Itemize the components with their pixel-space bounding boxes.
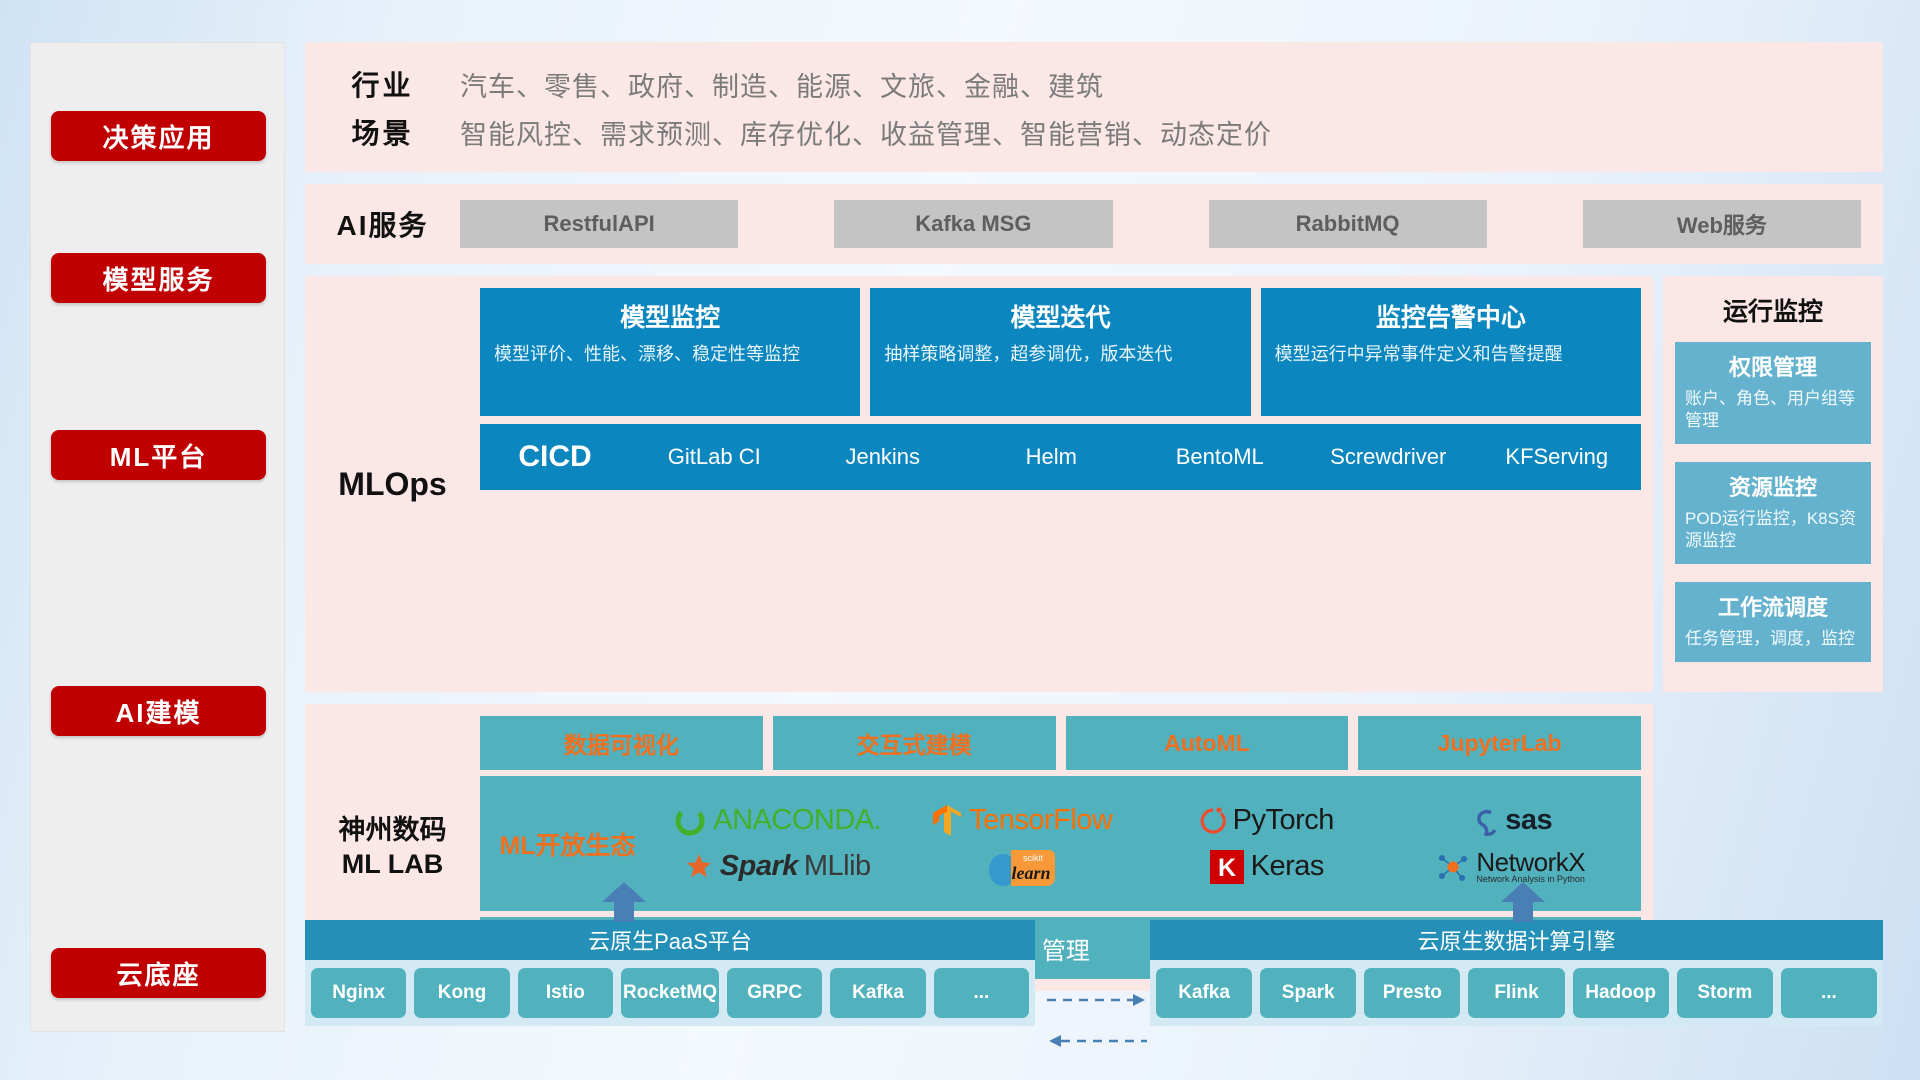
monitor-card-permission[interactable]: 权限管理 账户、角色、用户组等管理 xyxy=(1675,342,1871,444)
monitor-card-title: 资源监控 xyxy=(1685,470,1861,502)
cicd-tool[interactable]: KFServing xyxy=(1473,446,1642,468)
layer-chip-model-service[interactable]: 模型服务 xyxy=(51,253,266,303)
cloud-chip-kafka[interactable]: Kafka xyxy=(1156,968,1252,1018)
cicd-tool[interactable]: Helm xyxy=(967,446,1136,468)
svg-text:scikit: scikit xyxy=(1023,853,1043,863)
mlops-label: MLOps xyxy=(305,288,480,680)
scenario-row: 场景 智能风控、需求预测、库存优化、收益管理、智能营销、动态定价 xyxy=(305,108,1883,156)
ai-service-items: RestfulAPI Kafka MSG RabbitMQ Web服务 xyxy=(460,200,1883,248)
scenario-values: 智能风控、需求预测、库存优化、收益管理、智能营销、动态定价 xyxy=(460,113,1272,152)
monitor-card-workflow[interactable]: 工作流调度 任务管理，调度，监控 xyxy=(1675,582,1871,662)
scenario-label: 场景 xyxy=(305,112,460,152)
ai-service-label: AI服务 xyxy=(305,204,460,244)
networkx-logo-text: NetworkX xyxy=(1476,849,1585,875)
monitor-card-title: 权限管理 xyxy=(1685,350,1861,382)
pytorch-icon xyxy=(1199,804,1227,838)
mlops-card-title: 模型监控 xyxy=(494,298,846,334)
mlops-card-title: 监控告警中心 xyxy=(1275,298,1627,334)
dashed-arrow-right-icon xyxy=(1047,992,1147,1008)
layer-chip-ml-platform[interactable]: ML平台 xyxy=(51,430,266,480)
cloud-chip-nginx[interactable]: Nginx xyxy=(311,968,406,1018)
mlops-card-desc: 模型运行中异常事件定义和告警提醒 xyxy=(1275,342,1627,366)
cloud-chip-flink[interactable]: Flink xyxy=(1468,968,1564,1018)
cloud-chip-rocketmq[interactable]: RocketMQ xyxy=(621,968,719,1018)
mlops-card-list: 模型监控 模型评价、性能、漂移、稳定性等监控 模型迭代 抽样策略调整，超参调优，… xyxy=(480,288,1641,416)
anaconda-logo-text: ANACONDA. xyxy=(713,804,881,837)
ml-lab-tab-list: 数据可视化 交互式建模 AutoML JupyterLab xyxy=(480,716,1641,770)
cloud-chip-istio[interactable]: Istio xyxy=(518,968,613,1018)
pytorch-logo: PyTorch xyxy=(1199,804,1334,838)
monitor-card-desc: 账户、角色、用户组等管理 xyxy=(1685,388,1861,432)
spark-mllib-logo: Spark MLlib xyxy=(684,850,871,883)
runtime-monitoring-column: 运行监控 权限管理 账户、角色、用户组等管理 资源监控 POD运行监控，K8S资… xyxy=(1663,276,1883,692)
tab-automl[interactable]: AutoML xyxy=(1066,716,1349,770)
cloud-engine-chip-list: Kafka Spark Presto Flink Hadoop Storm ..… xyxy=(1150,960,1883,1026)
tab-jupyterlab[interactable]: JupyterLab xyxy=(1358,716,1641,770)
cloud-chip-grpc[interactable]: GRPC xyxy=(727,968,822,1018)
cloud-chip-more[interactable]: ... xyxy=(1781,968,1877,1018)
band-divider xyxy=(305,692,1883,704)
cloud-chip-spark[interactable]: Spark xyxy=(1260,968,1356,1018)
layer-label-rail: 决策应用 模型服务 ML平台 AI建模 云底座 xyxy=(30,42,285,1032)
tab-interactive-modeling[interactable]: 交互式建模 xyxy=(773,716,1056,770)
mlops-card-desc: 模型评价、性能、漂移、稳定性等监控 xyxy=(494,342,846,366)
cloud-chip-kong[interactable]: Kong xyxy=(414,968,509,1018)
up-arrow-icon xyxy=(1500,882,1546,922)
cicd-title: CICD xyxy=(480,440,630,474)
tensorflow-icon xyxy=(931,803,963,839)
ai-service-box[interactable]: RabbitMQ xyxy=(1209,200,1487,248)
cloud-engine-title: 云原生数据计算引擎 xyxy=(1150,920,1883,960)
ai-service-box[interactable]: Kafka MSG xyxy=(834,200,1112,248)
layer-chip-label: 决策应用 xyxy=(102,118,214,155)
mlops-card-alert-center[interactable]: 监控告警中心 模型运行中异常事件定义和告警提醒 xyxy=(1261,288,1641,416)
industry-label: 行业 xyxy=(305,64,460,104)
apache-spark-icon xyxy=(684,852,714,882)
band-divider xyxy=(305,264,1883,276)
tab-data-visualization[interactable]: 数据可视化 xyxy=(480,716,763,770)
cloud-chip-more[interactable]: ... xyxy=(934,968,1029,1018)
layer-chip-label: 模型服务 xyxy=(102,260,214,297)
layer-chip-ai-modeling[interactable]: AI建模 xyxy=(51,686,266,736)
cicd-tool[interactable]: Jenkins xyxy=(799,446,968,468)
ml-lab-label-line1: 神州数码 xyxy=(339,814,447,848)
cloud-native-paas-group: 云原生PaaS平台 Nginx Kong Istio RocketMQ GRPC… xyxy=(305,920,1035,1026)
industry-scenario-band: 行业 汽车、零售、政府、制造、能源、文旅、金融、建筑 场景 智能风控、需求预测、… xyxy=(305,42,1883,172)
mlops-card-desc: 抽样策略调整，超参调优，版本迭代 xyxy=(884,342,1236,366)
ml-lab-label-line2: ML LAB xyxy=(342,848,444,882)
mlops-content: 模型监控 模型评价、性能、漂移、稳定性等监控 模型迭代 抽样策略调整，超参调优，… xyxy=(480,288,1641,680)
cloud-chip-kafka[interactable]: Kafka xyxy=(830,968,925,1018)
cloud-chip-hadoop[interactable]: Hadoop xyxy=(1573,968,1669,1018)
networkx-icon xyxy=(1436,850,1470,884)
monitor-card-resource[interactable]: 资源监控 POD运行监控，K8S资源监控 xyxy=(1675,462,1871,564)
anaconda-icon xyxy=(673,804,707,838)
svg-text:K: K xyxy=(1218,854,1236,882)
monitor-card-desc: POD运行监控，K8S资源监控 xyxy=(1685,508,1861,552)
ai-service-box[interactable]: Web服务 xyxy=(1583,200,1861,248)
cloud-chip-presto[interactable]: Presto xyxy=(1364,968,1460,1018)
monitor-card-desc: 任务管理，调度，监控 xyxy=(1685,628,1861,650)
cloud-paas-title: 云原生PaaS平台 xyxy=(305,920,1035,960)
runtime-monitoring-title: 运行监控 xyxy=(1675,292,1871,328)
mlops-card-model-iteration[interactable]: 模型迭代 抽样策略调整，超参调优，版本迭代 xyxy=(870,288,1250,416)
sas-logo: sas xyxy=(1469,804,1552,837)
cloud-foundation-zone: 云原生PaaS平台 Nginx Kong Istio RocketMQ GRPC… xyxy=(305,880,1883,1045)
industry-row: 行业 汽车、零售、政府、制造、能源、文旅、金融、建筑 xyxy=(305,60,1883,108)
mllib-logo-text: MLlib xyxy=(804,850,871,883)
cicd-tool[interactable]: BentoML xyxy=(1136,446,1305,468)
ai-service-box[interactable]: RestfulAPI xyxy=(460,200,738,248)
sas-icon xyxy=(1469,806,1499,836)
architecture-main-column: 行业 汽车、零售、政府、制造、能源、文旅、金融、建筑 场景 智能风控、需求预测、… xyxy=(305,42,1883,991)
tensorflow-logo: TensorFlow xyxy=(931,803,1112,839)
cicd-tool[interactable]: GitLab CI xyxy=(630,446,799,468)
spark-logo-text: Spark xyxy=(720,850,798,883)
dashed-arrow-left-icon xyxy=(1047,1033,1147,1049)
sas-logo-text: sas xyxy=(1505,804,1552,837)
keras-logo-text: Keras xyxy=(1251,850,1324,883)
ecosystem-logo-grid: ANACONDA. TensorFlow xyxy=(655,798,1641,890)
tensorflow-logo-text: TensorFlow xyxy=(969,804,1112,837)
cloud-paas-chip-list: Nginx Kong Istio RocketMQ GRPC Kafka ... xyxy=(305,960,1035,1026)
layer-chip-label: 云底座 xyxy=(116,955,200,992)
monitor-card-title: 工作流调度 xyxy=(1685,590,1861,622)
up-arrow-icon xyxy=(601,882,647,922)
ai-service-band: AI服务 RestfulAPI Kafka MSG RabbitMQ Web服务 xyxy=(305,184,1883,264)
layer-chip-cloud-foundation[interactable]: 云底座 xyxy=(51,948,266,998)
mlops-card-model-monitoring[interactable]: 模型监控 模型评价、性能、漂移、稳定性等监控 xyxy=(480,288,860,416)
pytorch-logo-text: PyTorch xyxy=(1233,804,1334,837)
cicd-row: CICD GitLab CI Jenkins Helm BentoML Scre… xyxy=(480,424,1641,490)
mlops-section: MLOps 模型监控 模型评价、性能、漂移、稳定性等监控 模型迭代 抽样策略调整… xyxy=(305,276,1883,692)
layer-chip-decision-app[interactable]: 决策应用 xyxy=(51,111,266,161)
layer-chip-label: ML平台 xyxy=(110,437,208,474)
band-divider xyxy=(305,172,1883,184)
anaconda-logo: ANACONDA. xyxy=(673,804,881,838)
mlops-card-title: 模型迭代 xyxy=(884,298,1236,334)
ml-open-ecosystem-label: ML开放生态 xyxy=(480,826,655,862)
industry-values: 汽车、零售、政府、制造、能源、文旅、金融、建筑 xyxy=(460,65,1104,104)
cloud-native-data-engine-group: 云原生数据计算引擎 Kafka Spark Presto Flink Hadoo… xyxy=(1150,920,1883,1026)
layer-chip-label: AI建模 xyxy=(115,693,201,730)
mlops-band: MLOps 模型监控 模型评价、性能、漂移、稳定性等监控 模型迭代 抽样策略调整… xyxy=(305,276,1653,692)
cloud-chip-storm[interactable]: Storm xyxy=(1677,968,1773,1018)
cicd-tool[interactable]: Screwdriver xyxy=(1304,446,1473,468)
